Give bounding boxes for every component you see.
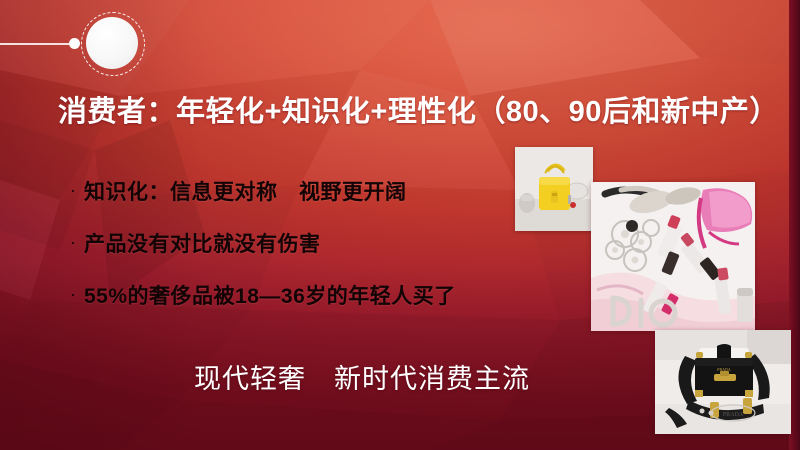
bullet-mark-icon: · [70, 285, 84, 303]
list-item: · 产品没有对比就没有伤害 [70, 228, 540, 258]
cosmetics-flatlay-illustration [591, 182, 755, 331]
white-connector-line [0, 43, 74, 45]
list-item: · 55%的奢侈品被18—36岁的年轻人买了 [70, 280, 540, 310]
svg-text:PRADA: PRADA [723, 412, 744, 418]
crossbody-bag-illustration: PRADA PRADA [655, 330, 791, 434]
list-item: · 知识化：信息更对称 视野更开阔 [70, 176, 540, 206]
svg-text:PRADA: PRADA [717, 367, 731, 372]
bullet-mark-icon: · [70, 181, 84, 199]
slide-footer-text: 现代轻奢 新时代消费主流 [194, 357, 530, 396]
yellow-handbag-photo [515, 147, 593, 231]
slide-title: 消费者：年轻化+知识化+理性化（80、90后和新中产） [58, 88, 779, 130]
white-circle-bullet [86, 17, 138, 69]
presentation-slide: 消费者：年轻化+知识化+理性化（80、90后和新中产） · 知识化：信息更对称 … [0, 0, 800, 450]
black-white-handbag-photo: PRADA PRADA [655, 330, 791, 434]
bullet-text: 55%的奢侈品被18—36岁的年轻人买了 [84, 280, 456, 310]
bullet-mark-icon: · [70, 233, 84, 251]
yellow-handbag-illustration [515, 147, 593, 231]
bullet-text: 产品没有对比就没有伤害 [84, 228, 321, 258]
bullet-list: · 知识化：信息更对称 视野更开阔 · 产品没有对比就没有伤害 · 55%的奢侈… [70, 176, 540, 332]
white-dot [69, 38, 80, 49]
cosmetics-jewelry-photo [591, 182, 755, 331]
bullet-text: 知识化：信息更对称 视野更开阔 [84, 176, 407, 206]
